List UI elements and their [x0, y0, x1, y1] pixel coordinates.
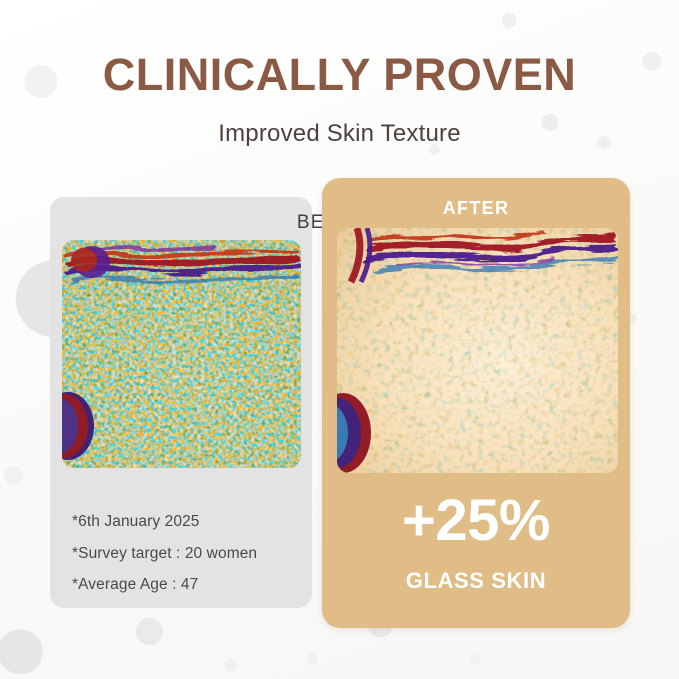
page-subtitle: Improved Skin Texture: [0, 97, 679, 148]
result-percentage: +25%: [322, 492, 630, 550]
skin-texture-micrograph-before: [62, 240, 301, 468]
footnotes-list: *6th January 2025 *Survey target : 20 wo…: [72, 514, 302, 609]
result-caption: GLASS SKIN: [322, 550, 630, 594]
header: CLINICALLY PROVEN Improved Skin Texture: [0, 0, 679, 148]
footnote-average-age: *Average Age : 47: [72, 577, 302, 609]
result-block: +25% GLASS SKIN: [322, 492, 630, 594]
promo-infographic: CLINICALLY PROVEN Improved Skin Texture …: [0, 0, 679, 679]
after-label: AFTER: [322, 198, 630, 219]
skin-texture-micrograph-after: [337, 228, 618, 473]
footnote-survey-target: *Survey target : 20 women: [72, 546, 302, 578]
page-title: CLINICALLY PROVEN: [0, 52, 679, 97]
footnote-date: *6th January 2025: [72, 514, 302, 546]
